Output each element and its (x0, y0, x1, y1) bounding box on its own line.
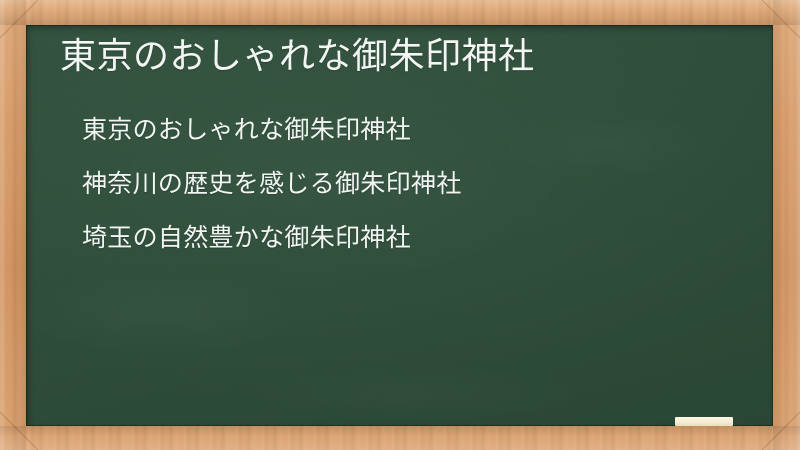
list-item: 神奈川の歴史を感じる御朱印神社 (60, 157, 750, 211)
page-title: 東京のおしゃれな御朱印神社 (60, 34, 750, 80)
list-item: 埼玉の自然豊かな御朱印神社 (60, 211, 750, 265)
frame-grain-right-rail (773, 0, 800, 450)
chalkboard: 東京のおしゃれな御朱印神社 東京のおしゃれな御朱印神社 神奈川の歴史を感じる御朱… (26, 25, 773, 426)
chalk-stick (675, 417, 733, 426)
topic-list: 東京のおしゃれな御朱印神社 神奈川の歴史を感じる御朱印神社 埼玉の自然豊かな御朱… (60, 103, 750, 265)
list-item: 東京のおしゃれな御朱印神社 (60, 103, 750, 157)
frame-grain-top-rail (0, 0, 800, 25)
frame-grain-bottom-rail (0, 426, 800, 450)
wooden-frame: 東京のおしゃれな御朱印神社 東京のおしゃれな御朱印神社 神奈川の歴史を感じる御朱… (0, 0, 800, 450)
frame-grain-left-rail (0, 0, 26, 450)
